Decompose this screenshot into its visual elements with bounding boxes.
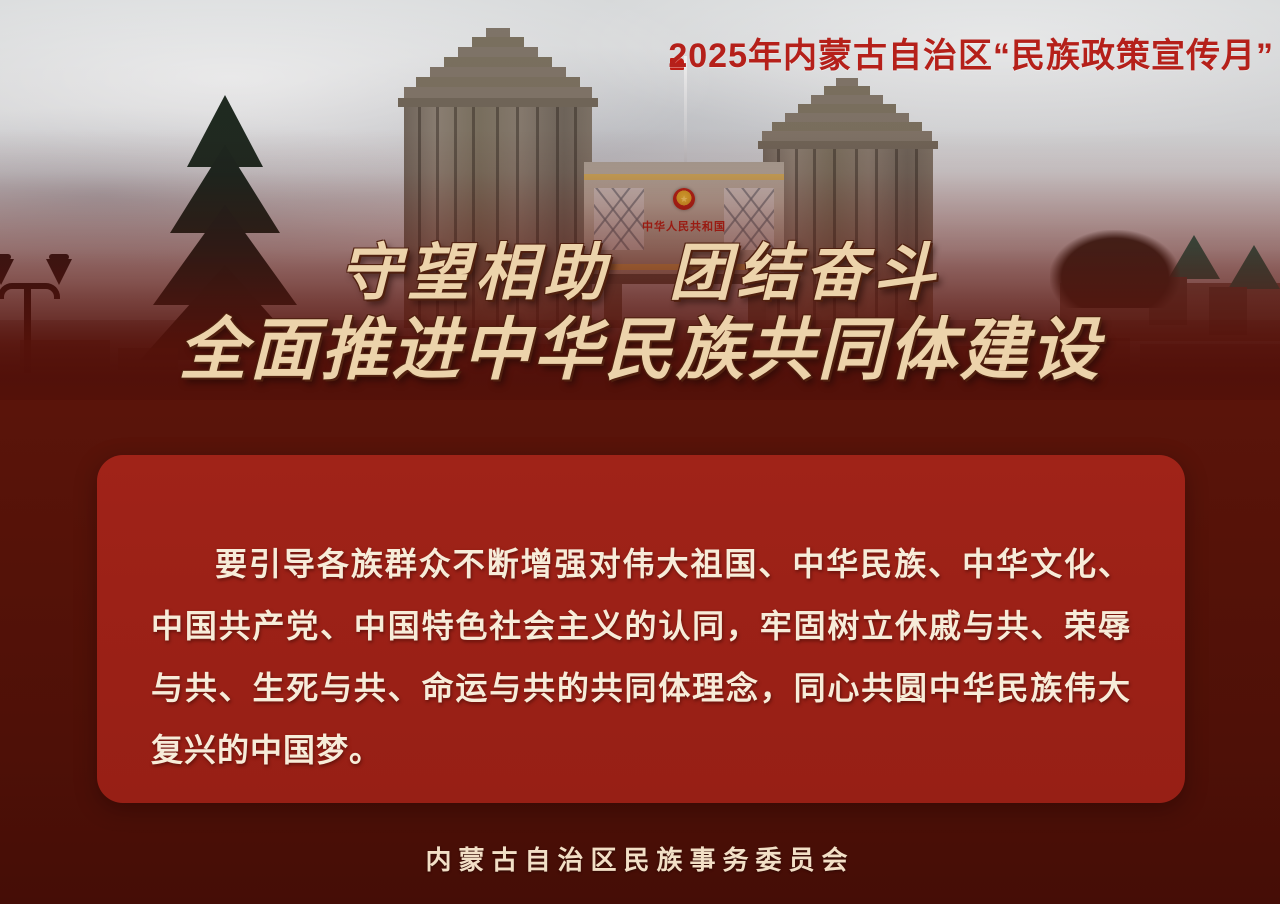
- poster-root: ★ 中华人民共和国 2025年内蒙古自治区“民族政策宣传月”: [0, 0, 1280, 904]
- campaign-banner-title: 2025年内蒙古自治区“民族政策宣传月”: [668, 28, 1274, 77]
- footer-organization: 内蒙古自治区民族事务委员会: [0, 840, 1280, 877]
- quote-text: 要引导各族群众不断增强对伟大祖国、中华民族、中华文化、中国共产党、中国特色社会主…: [151, 533, 1131, 781]
- quote-card: 要引导各族群众不断增强对伟大祖国、中华民族、中华文化、中国共产党、中国特色社会主…: [97, 455, 1185, 803]
